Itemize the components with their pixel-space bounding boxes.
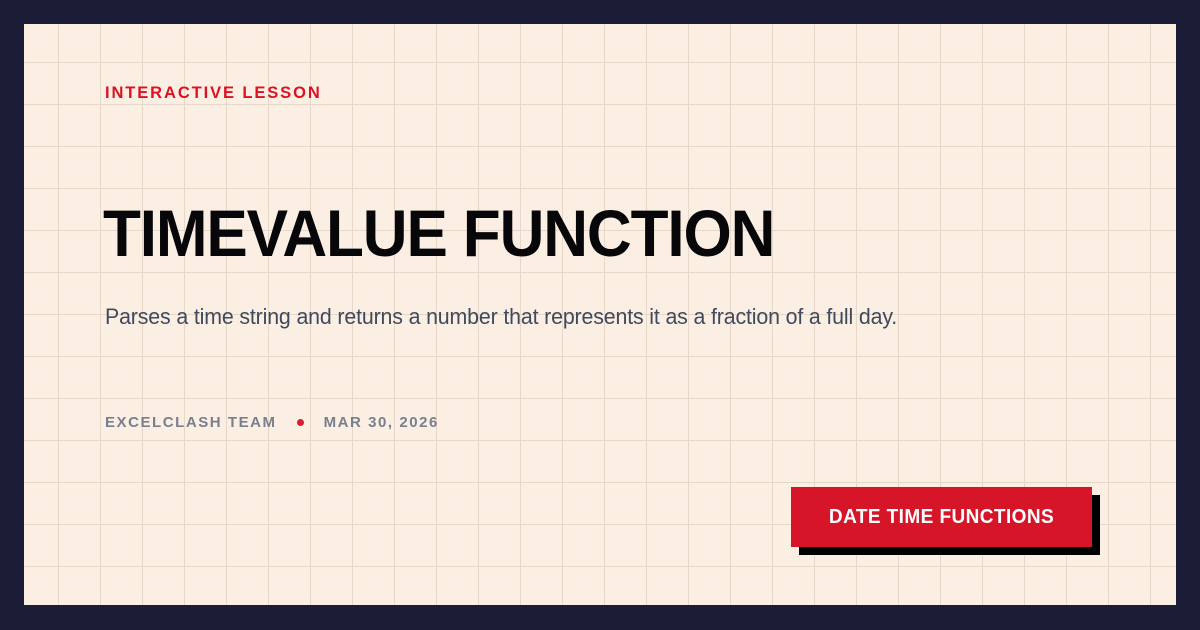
dot-separator-icon [297, 419, 304, 426]
lesson-card: INTERACTIVE LESSON TIMEVALUE FUNCTION Pa… [24, 24, 1176, 605]
outer-frame: INTERACTIVE LESSON TIMEVALUE FUNCTION Pa… [0, 0, 1200, 630]
eyebrow-label: INTERACTIVE LESSON [105, 84, 322, 103]
page-title: TIMEVALUE FUNCTION [103, 200, 774, 266]
byline: EXCELCLASH TEAM MAR 30, 2026 [105, 414, 439, 431]
card-content: INTERACTIVE LESSON TIMEVALUE FUNCTION Pa… [24, 24, 1176, 605]
byline-author: EXCELCLASH TEAM [105, 414, 277, 431]
category-badge-label: DATE TIME FUNCTIONS [829, 506, 1054, 529]
lesson-description: Parses a time string and returns a numbe… [105, 298, 997, 335]
category-badge-wrapper: DATE TIME FUNCTIONS [791, 487, 1092, 547]
category-badge[interactable]: DATE TIME FUNCTIONS [791, 487, 1092, 547]
byline-date: MAR 30, 2026 [324, 414, 439, 431]
